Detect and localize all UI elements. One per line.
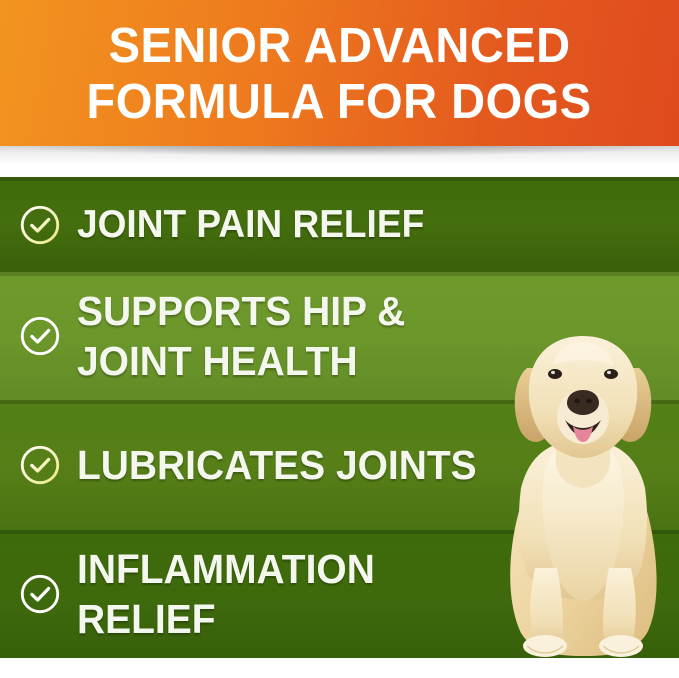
check-circle-icon bbox=[17, 202, 63, 248]
benefit-row-joint-pain-relief: JOINT PAIN RELIEF bbox=[0, 177, 679, 272]
check-circle-icon bbox=[17, 313, 63, 359]
check-circle-icon bbox=[17, 442, 63, 488]
benefit-label: JOINT PAIN RELIEF bbox=[77, 203, 424, 246]
benefit-row-inflammation-relief: INFLAMMATION RELIEF bbox=[0, 530, 679, 658]
benefit-label: SUPPORTS HIP & JOINT HEALTH bbox=[77, 286, 524, 386]
header-banner: SENIOR ADVANCED FORMULA FOR DOGS bbox=[0, 0, 679, 146]
check-circle-icon bbox=[17, 571, 63, 617]
header-divider bbox=[0, 146, 679, 177]
header-title-line-2: FORMULA FOR DOGS bbox=[87, 74, 592, 130]
benefit-row-supports-hip-joint-health: SUPPORTS HIP & JOINT HEALTH bbox=[0, 272, 679, 400]
benefit-label: LUBRICATES JOINTS bbox=[77, 440, 477, 490]
benefit-label: INFLAMMATION RELIEF bbox=[77, 544, 524, 644]
benefits-list: JOINT PAIN RELIEF SUPPORTS HIP & JOINT H… bbox=[0, 177, 679, 658]
header-title-line-1: SENIOR ADVANCED bbox=[109, 18, 571, 74]
product-feature-graphic: SENIOR ADVANCED FORMULA FOR DOGS JOINT P… bbox=[0, 0, 679, 678]
bottom-margin bbox=[0, 658, 679, 678]
benefit-row-lubricates-joints: LUBRICATES JOINTS bbox=[0, 400, 679, 530]
